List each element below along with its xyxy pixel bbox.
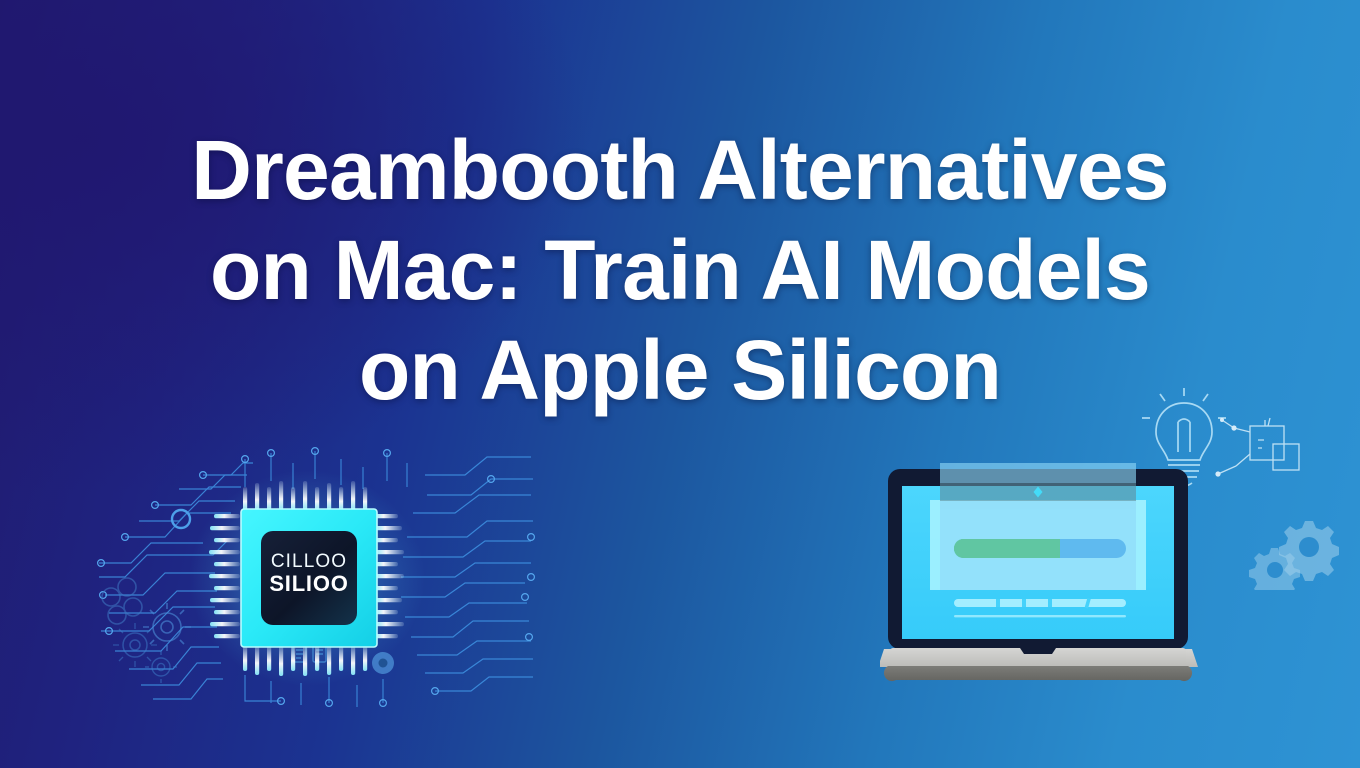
chip-label-line-1: CILLOO bbox=[271, 551, 347, 572]
overlay-window bbox=[940, 463, 1136, 590]
page-title: Dreambooth Alternatives on Mac: Train AI… bbox=[0, 120, 1360, 420]
gear-icon bbox=[113, 623, 157, 667]
gear-small-icon bbox=[145, 651, 177, 683]
page-title-line-3: on Apple Silicon bbox=[0, 320, 1360, 420]
chip-illustration: CILLOO SILIOO bbox=[95, 445, 535, 710]
molecule-icon bbox=[102, 578, 142, 624]
laptop-trackpad-notch bbox=[1020, 648, 1056, 654]
page-title-line-2: on Mac: Train AI Models bbox=[0, 220, 1360, 320]
laptop-illustration bbox=[880, 455, 1250, 710]
banner-hero: Dreambooth Alternatives on Mac: Train AI… bbox=[0, 0, 1360, 768]
page-title-line-1: Dreambooth Alternatives bbox=[0, 120, 1360, 220]
laptop-base-bottom bbox=[884, 666, 1192, 681]
chip-label-line-2: SILIOO bbox=[269, 571, 348, 596]
